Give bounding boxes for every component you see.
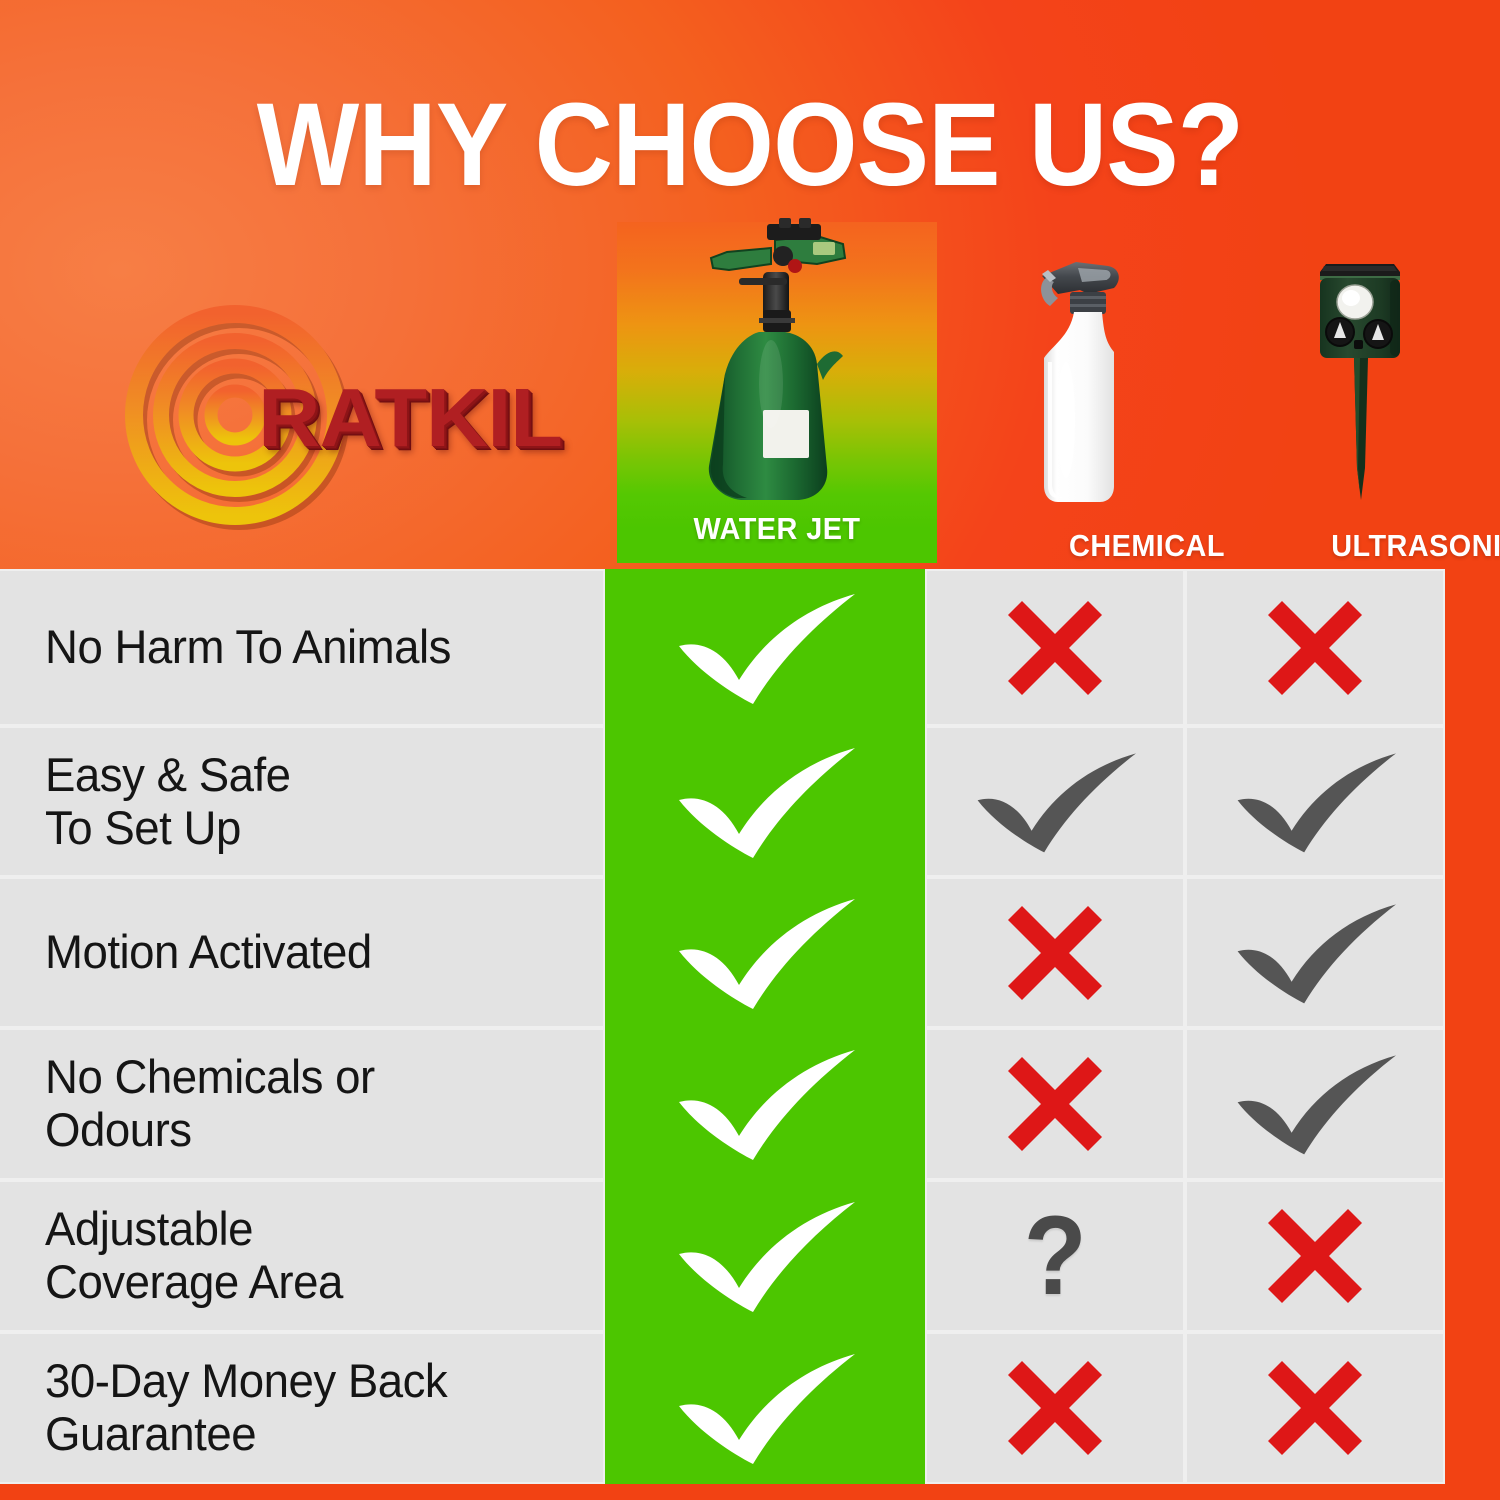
cell-ultrasonic [1185, 726, 1445, 877]
brand-name: RATKIL [258, 370, 562, 466]
check-white-icon [665, 1044, 865, 1164]
check-white-icon [665, 893, 865, 1013]
column-header-water-jet: WATER JET [617, 222, 937, 563]
column-label-water-jet: WATER JET [628, 511, 926, 547]
cell-chemical [925, 1332, 1185, 1484]
check-white-icon [665, 742, 865, 862]
page-title: WHY CHOOSE US? [60, 86, 1440, 204]
feature-label-cell: No Harm To Animals [0, 569, 605, 726]
check-gray-icon [965, 747, 1145, 857]
cell-chemical [925, 877, 1185, 1028]
table-row: Motion Activated [0, 877, 1500, 1028]
cell-water-jet [605, 569, 925, 726]
cross-red-icon [1000, 1353, 1110, 1463]
feature-label-cell: Easy & Safe To Set Up [0, 726, 605, 877]
cross-red-icon [1260, 1201, 1370, 1311]
feature-label-cell: No Chemicals or Odours [0, 1028, 605, 1180]
cross-red-icon [1260, 1353, 1370, 1463]
check-gray-icon [1225, 747, 1405, 857]
infographic-root: WHY CHOOSE US? RATKIL [0, 0, 1500, 1500]
table-row: No Chemicals or Odours [0, 1028, 1500, 1180]
column-label-chemical: CHEMICAL [1026, 528, 1268, 564]
feature-label-cell: 30-Day Money Back Guarantee [0, 1332, 605, 1484]
cross-red-icon [1000, 898, 1110, 1008]
comparison-table: No Harm To Animals Easy & Safe To [0, 569, 1500, 1484]
brand-logo: RATKIL [118, 296, 478, 534]
cell-chemical: ? [925, 1180, 1185, 1332]
check-white-icon [665, 588, 865, 708]
chemical-spray-bottle-icon [1022, 250, 1142, 512]
check-white-icon [665, 1196, 865, 1316]
cell-ultrasonic [1185, 1180, 1445, 1332]
feature-label-cell: Adjustable Coverage Area [0, 1180, 605, 1332]
check-gray-icon [1225, 898, 1405, 1008]
table-row: No Harm To Animals [0, 569, 1500, 726]
column-label-ultrasonic: ULTRASONIC [1306, 528, 1500, 564]
cell-water-jet [605, 726, 925, 877]
cross-red-icon [1000, 593, 1110, 703]
cell-water-jet [605, 1028, 925, 1180]
table-row: 30-Day Money Back Guarantee [0, 1332, 1500, 1484]
question-mark-icon: ? [1024, 1200, 1087, 1312]
check-gray-icon [1225, 1049, 1405, 1159]
ultrasonic-repeller-stake-icon [1302, 248, 1422, 512]
table-row: Easy & Safe To Set Up [0, 726, 1500, 877]
cell-ultrasonic [1185, 1332, 1445, 1484]
cell-chemical [925, 569, 1185, 726]
cell-chemical [925, 726, 1185, 877]
cell-ultrasonic [1185, 877, 1445, 1028]
water-jet-sprinkler-icon [667, 214, 887, 514]
check-white-icon [665, 1348, 865, 1468]
cell-water-jet [605, 877, 925, 1028]
cross-red-icon [1260, 593, 1370, 703]
cell-ultrasonic [1185, 1028, 1445, 1180]
cell-water-jet [605, 1180, 925, 1332]
table-row: Adjustable Coverage Area ? [0, 1180, 1500, 1332]
cell-water-jet [605, 1332, 925, 1484]
cell-ultrasonic [1185, 569, 1445, 726]
feature-label-cell: Motion Activated [0, 877, 605, 1028]
cell-chemical [925, 1028, 1185, 1180]
cross-red-icon [1000, 1049, 1110, 1159]
